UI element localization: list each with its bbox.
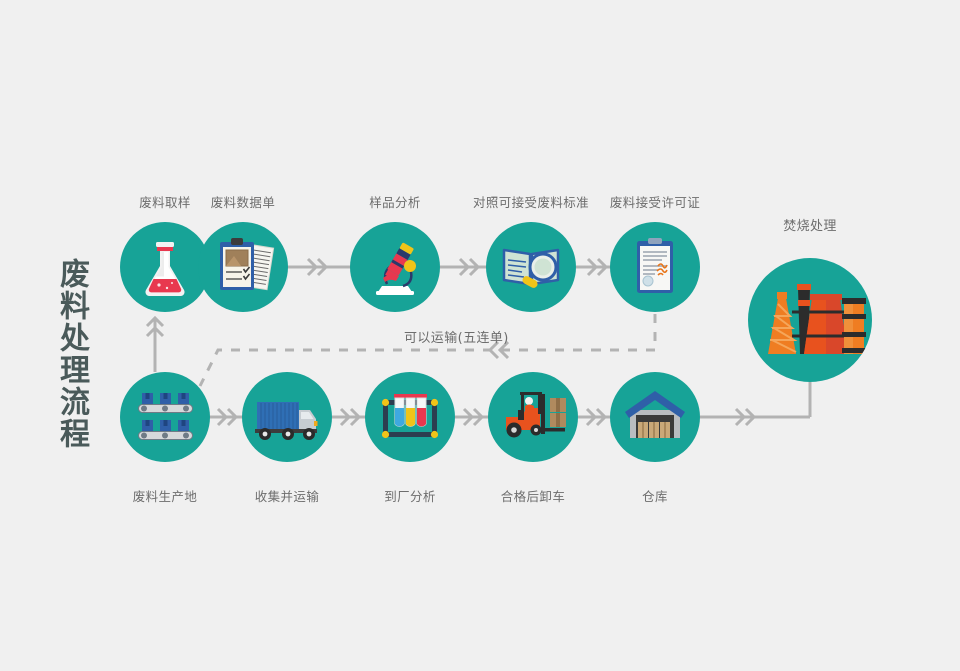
- truck-icon: [242, 372, 332, 462]
- acceptance-permit-circle: [610, 222, 700, 312]
- collect-transport-circle: [242, 372, 332, 462]
- flow-note-label: 可以运输(五连单): [404, 327, 509, 346]
- unload-after-pass-circle: [488, 372, 578, 462]
- flask-icon: [120, 222, 210, 312]
- compare-standard-circle: [486, 222, 576, 312]
- waste-origin-circle: [120, 372, 210, 462]
- waste-data-sheet-circle: [198, 222, 288, 312]
- microscope-icon: [350, 222, 440, 312]
- page-title: 废料处理流程: [44, 258, 88, 450]
- refinery-icon: [748, 258, 872, 382]
- warehouse-label: 仓库: [605, 486, 705, 505]
- certificate-icon: [610, 222, 700, 312]
- waste-data-sheet-label: 废料数据单: [188, 192, 298, 211]
- plant-analysis-label: 到厂分析: [360, 486, 460, 505]
- warehouse-icon: [610, 372, 700, 462]
- forklift-icon: [488, 372, 578, 462]
- sample-analysis-label: 样品分析: [345, 192, 445, 211]
- waste-sampling-circle: [120, 222, 210, 312]
- book-magnifier-icon: [486, 222, 576, 312]
- test-tubes-icon: [365, 372, 455, 462]
- compare-standard-label: 对照可接受废料标准: [461, 192, 601, 211]
- incineration-circle: [748, 258, 872, 382]
- unload-after-pass-label: 合格后卸车: [483, 486, 583, 505]
- sample-analysis-circle: [350, 222, 440, 312]
- plant-analysis-circle: [365, 372, 455, 462]
- clipboard-icon: [198, 222, 288, 312]
- waste-origin-label: 废料生产地: [115, 486, 215, 505]
- collect-transport-label: 收集并运输: [237, 486, 337, 505]
- acceptance-permit-label: 废料接受许可证: [595, 192, 715, 211]
- conveyor-icon: [120, 372, 210, 462]
- warehouse-circle: [610, 372, 700, 462]
- incineration-label: 焚烧处理: [760, 215, 860, 234]
